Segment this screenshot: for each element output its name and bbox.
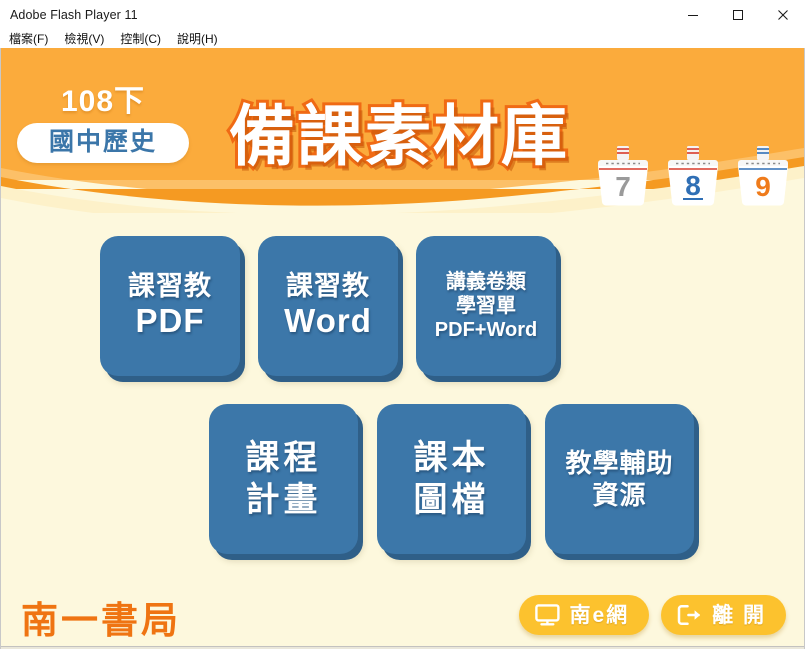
maximize-icon [732,9,744,21]
window-controls [670,0,805,29]
menu-item-help[interactable]: 說明(H) [177,33,218,45]
tile-teaching-word[interactable]: 課習教 Word [258,236,398,376]
footer-actions: 南e網 離 開 [519,595,786,635]
menu-item-control[interactable]: 控制(C) [120,33,161,45]
tile-label-line1: 課本 [414,437,490,479]
tile-label-line2: Word [284,302,372,341]
menu-item-view[interactable]: 檢視(V) [64,33,104,45]
tile-label-line1: 教學輔助 [565,447,673,480]
subject-badge: 國中歷史 [17,123,189,163]
close-button[interactable] [760,0,805,29]
grade-books-group: 7 8 [592,144,794,206]
monitor-icon [535,604,560,626]
term-label: 108下 [17,87,189,117]
close-icon [777,9,789,21]
book-icon-7: 7 [592,144,654,206]
tile-label-line1: 講義卷類 [446,270,526,294]
flash-stage: 108下 國中歷史 備課素材庫 [0,48,805,649]
tile-label-line2: 計畫 [246,479,322,521]
banner-content: 108下 國中歷史 備課素材庫 [1,48,804,198]
tile-course-plan[interactable]: 課程 計畫 [209,404,358,554]
menubar: 檔案(F) 檢視(V) 控制(C) 說明(H) [0,29,805,48]
tile-textbook-images[interactable]: 課本 圖檔 [377,404,526,554]
exit-icon [677,604,703,626]
subject-label: 國中歷史 [17,130,189,155]
tile-label-line1: 課習教 [128,271,212,303]
book-icon-8: 8 [662,144,724,206]
book-icon-9: 9 [732,144,794,206]
minimize-icon [687,9,699,21]
svg-text:9: 9 [755,171,771,202]
tile-label-line1: 課程 [246,437,322,479]
tile-label-line2: 學習單 [456,294,516,318]
tile-teaching-aids[interactable]: 教學輔助 資源 [545,404,694,554]
tile-row-2: 課程 計畫 課本 圖檔 教學輔助 資源 [209,404,694,554]
nani-web-button[interactable]: 南e網 [519,595,649,635]
tile-label-line1: 課習教 [286,271,370,303]
exit-button[interactable]: 離 開 [661,595,786,635]
page-title: 備課素材庫 [229,101,569,172]
tile-label-line2: 資源 [592,479,646,512]
minimize-button[interactable] [670,0,715,29]
exit-label: 離 開 [712,605,766,626]
tile-teaching-pdf[interactable]: 課習教 PDF [100,236,240,376]
titlebar: Adobe Flash Player 11 [0,0,805,29]
svg-text:7: 7 [615,171,631,202]
svg-text:8: 8 [685,170,701,201]
tile-handouts-worksheets[interactable]: 講義卷類 學習單 PDF+Word [416,236,556,376]
tile-label-line2: PDF [136,302,205,341]
menu-item-file[interactable]: 檔案(F) [9,33,48,45]
tile-label-line2: 圖檔 [414,479,490,521]
tile-label-line3: PDF+Word [435,318,537,342]
nani-web-label: 南e網 [569,605,629,626]
tile-row-1: 課習教 PDF 課習教 Word 講義卷類 學習單 PDF+Word [100,236,556,376]
publisher-logo: 南一書局 [21,602,181,639]
flash-player-window: Adobe Flash Player 11 檔案(F) 檢視(V [0,0,805,649]
window-title: Adobe Flash Player 11 [0,8,138,22]
header-banner: 108下 國中歷史 備課素材庫 [1,48,804,213]
maximize-button[interactable] [715,0,760,29]
grade-badge-group: 108下 國中歷史 [17,87,189,163]
